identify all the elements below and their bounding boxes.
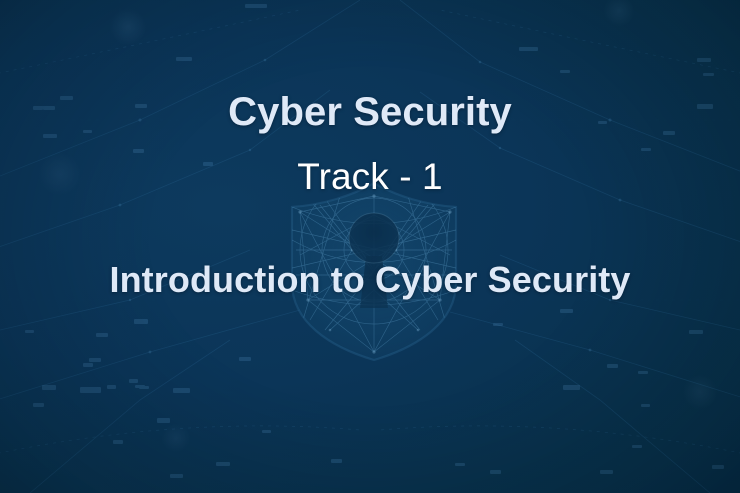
slide-text-block: Cyber Security Track - 1 Introduction to… — [0, 0, 740, 493]
slide-canvas: Cyber Security Track - 1 Introduction to… — [0, 0, 740, 493]
slide-subject-title: Introduction to Cyber Security — [0, 258, 740, 302]
slide-title: Cyber Security — [0, 88, 740, 136]
slide-track-label: Track - 1 — [0, 155, 740, 199]
